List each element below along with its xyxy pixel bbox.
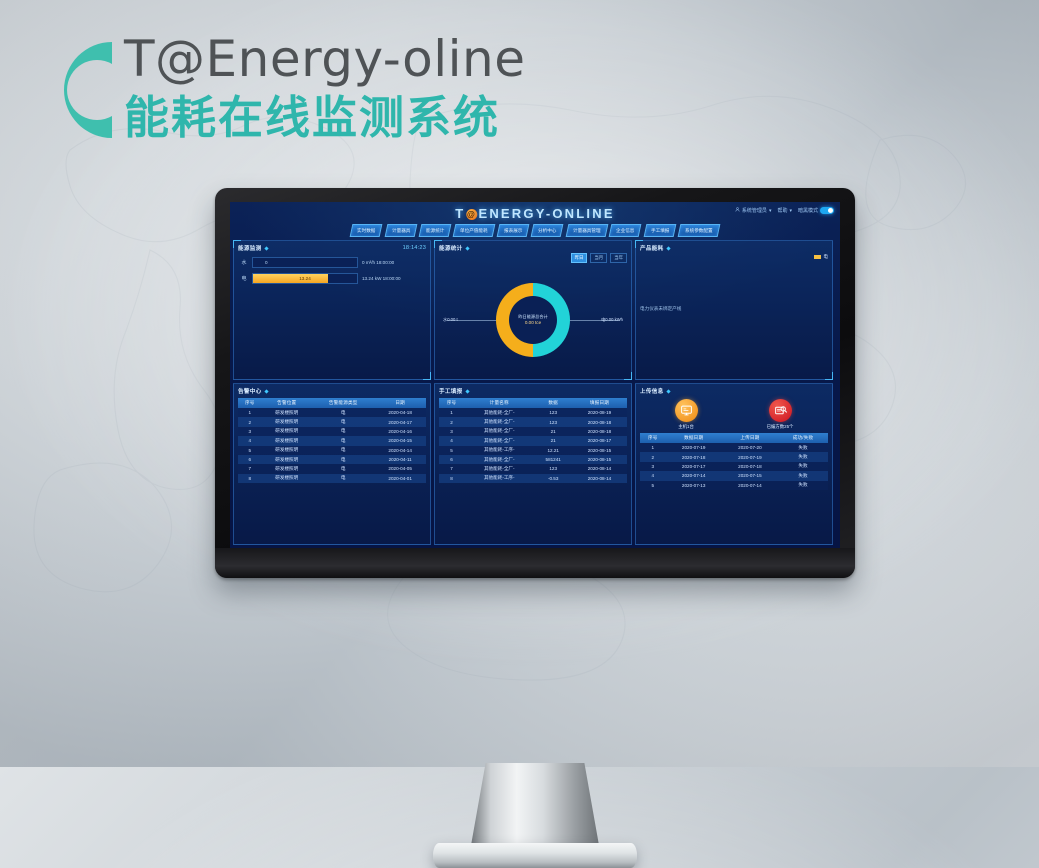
table-cell: 581241 xyxy=(534,455,571,464)
table-row[interactable]: 6其他能耗-全厂-5812412020-08-15 xyxy=(439,455,627,464)
table-cell: 研发楼照明 xyxy=(261,446,312,455)
grid-column-left: 能源监测 18:14:23 水 0 0 m³/h 1 xyxy=(233,240,431,545)
table-row[interactable]: 1其他能耗-全厂-1232020-08-19 xyxy=(439,408,627,417)
c-logo-mark-icon xyxy=(56,36,118,144)
table-cell: 其他能耗-全厂- xyxy=(464,417,534,426)
diamond-icon xyxy=(264,246,268,250)
table-row[interactable]: 3其他能耗-全厂-212020-08-18 xyxy=(439,427,627,436)
table-cell: 2020-08-18 xyxy=(572,417,627,426)
table-cell: 7 xyxy=(439,464,464,473)
table-cell: 2020-08-19 xyxy=(572,408,627,417)
table-cell: 2020-07-20 xyxy=(722,443,778,452)
panel-title-text: 手工填报 xyxy=(439,387,463,395)
nav-item-1[interactable]: 计量器具 xyxy=(384,224,417,237)
table-row[interactable]: 6研发楼照明电2020-04-11 xyxy=(238,455,426,464)
nav-label: 企业信息 xyxy=(616,225,634,236)
donut-center-value: 0.00 tce xyxy=(525,320,541,325)
energy-bar-meta: 13.24 kW 18:00:00 xyxy=(362,276,424,281)
table-row[interactable]: 52020-07-132020-07-14失败 xyxy=(640,481,828,490)
energy-type-label: 电 xyxy=(240,275,248,282)
upload-badges: 主机1台 已编方数25个 xyxy=(640,399,828,430)
brand-title: T@Energy-oline xyxy=(124,28,526,90)
donut-ring: 昨日能源总合计 0.00 tce xyxy=(496,283,570,357)
nav-label: 报表展示 xyxy=(504,225,522,236)
table-row[interactable]: 2研发楼照明电2020-04-17 xyxy=(238,417,426,426)
table-cell: 123 xyxy=(534,417,571,426)
logo-at-icon: @ xyxy=(466,209,477,220)
table-cell: 1 xyxy=(439,408,464,417)
grid-column-right: 产品能耗 电 电力仪表未绑定产线 上传信息 xyxy=(635,240,833,545)
table-row[interactable]: 8其他能耗-工序--0.532020-08-14 xyxy=(439,474,627,483)
table-cell: 2020-07-18 xyxy=(666,452,722,461)
table-cell: 研发楼照明 xyxy=(261,427,312,436)
table-column-header: 序号 xyxy=(439,398,464,408)
nav-item-5[interactable]: 分析中心 xyxy=(531,224,564,237)
table-cell: 其他能耗-全厂- xyxy=(464,464,534,473)
tab-this-month[interactable]: 当月 xyxy=(590,253,607,263)
table-cell: 3 xyxy=(238,427,261,436)
panel-alarm-center: 告警中心 序号告警位置告警能源类型日期 1研发楼照明电2020-04-182研发… xyxy=(233,383,431,545)
energy-bar-fill xyxy=(253,274,328,283)
table-cell: 研发楼照明 xyxy=(261,408,312,417)
dark-mode-switch[interactable]: 暗黑模式 xyxy=(798,207,834,214)
app-logo: T@ENERGY-ONLINE xyxy=(455,206,614,221)
table-cell: 失败 xyxy=(778,443,828,452)
table-cell: 其他能耗-全厂- xyxy=(464,455,534,464)
nav-label: 计量器具 xyxy=(392,225,410,236)
table-cell: 2020-08-17 xyxy=(572,436,627,445)
tab-this-year[interactable]: 当年 xyxy=(610,253,627,263)
table-row[interactable]: 7研发楼照明电2020-04-05 xyxy=(238,464,426,473)
table-cell: 2020-04-14 xyxy=(374,446,426,455)
table-cell: 2020-07-14 xyxy=(722,481,778,490)
table-row[interactable]: 3研发楼照明电2020-04-16 xyxy=(238,427,426,436)
logo-suffix: ENERGY-ONLINE xyxy=(478,206,614,221)
table-cell: 研发楼照明 xyxy=(261,436,312,445)
nav-label: 手工填报 xyxy=(651,225,669,236)
user-icon xyxy=(735,207,740,214)
alarm-table: 序号告警位置告警能源类型日期 1研发楼照明电2020-04-182研发楼照明电2… xyxy=(238,398,426,483)
logo-prefix: T xyxy=(455,206,465,221)
nav-item-3[interactable]: 单位产值能耗 xyxy=(453,224,495,237)
table-cell: 2020-08-15 xyxy=(572,455,627,464)
table-cell: 1 xyxy=(238,408,261,417)
nav-label: 实时数据 xyxy=(357,225,375,236)
nav-label: 能源统计 xyxy=(426,225,444,236)
table-cell: 4 xyxy=(439,436,464,445)
table-row[interactable]: 1研发楼照明电2020-04-18 xyxy=(238,408,426,417)
panel-title-text: 上传信息 xyxy=(640,387,664,395)
energy-bar-row: 电 13.24 13.24 kW 18:00:00 xyxy=(240,273,424,284)
panel-title: 能源统计 xyxy=(439,244,627,252)
panel-title: 手工填报 xyxy=(439,387,627,395)
table-column-header: 序号 xyxy=(640,433,666,443)
monitor-screen: T@ENERGY-ONLINE 系统管理员 ▾ 帮助 ▾ 暗黑模式 xyxy=(230,202,840,548)
monitor-neck xyxy=(470,763,600,851)
table-cell: 电 xyxy=(312,464,374,473)
table-column-header: 上传日期 xyxy=(722,433,778,443)
diamond-icon xyxy=(465,389,469,393)
table-cell: 研发楼照明 xyxy=(261,455,312,464)
table-header-row: 序号数据日期上传日期成功/失败 xyxy=(640,433,828,443)
panel-title-text: 产品能耗 xyxy=(640,244,664,252)
monitor: T@ENERGY-ONLINE 系统管理员 ▾ 帮助 ▾ 暗黑模式 xyxy=(215,188,855,578)
table-cell: 失败 xyxy=(778,481,828,490)
dark-mode-label: 暗黑模式 xyxy=(798,207,818,214)
dashboard-grid: 能源监测 18:14:23 水 0 0 m³/h 1 xyxy=(230,237,840,548)
table-cell: 4 xyxy=(238,436,261,445)
energy-bar-list: 水 0 0 m³/h 18:00:00 电 xyxy=(238,252,426,284)
table-cell: 2020-07-17 xyxy=(666,462,722,471)
diamond-icon xyxy=(465,246,469,250)
legend-label: 电 xyxy=(823,254,828,260)
table-column-header: 告警位置 xyxy=(261,398,312,408)
help-label: 帮助 xyxy=(777,207,787,214)
diamond-icon xyxy=(264,389,268,393)
branding: T@Energy-oline 能耗在线监测系统 xyxy=(56,28,616,158)
nav-label: 分析中心 xyxy=(538,225,556,236)
donut-label-right: 电0.00 kWh xyxy=(601,317,623,323)
table-cell: 5 xyxy=(640,481,666,490)
tab-yesterday[interactable]: 昨日 xyxy=(571,253,588,263)
table-column-header: 计量名称 xyxy=(464,398,534,408)
panel-title: 上传信息 xyxy=(640,387,828,395)
badge-host-count[interactable]: 主机1台 xyxy=(675,399,698,430)
nav-label: 计量器具管理 xyxy=(573,225,601,236)
table-row[interactable]: 2其他能耗-全厂-1232020-08-18 xyxy=(439,417,627,426)
nav-item-0[interactable]: 实时数据 xyxy=(350,224,383,237)
table-row[interactable]: 8研发楼照明电2020-04-01 xyxy=(238,474,426,483)
panel-energy-monitor: 能源监测 18:14:23 水 0 0 m³/h 1 xyxy=(233,240,431,380)
panel-title-text: 能源统计 xyxy=(439,244,463,252)
energy-bar-meta: 0 m³/h 18:00:00 xyxy=(362,260,424,265)
table-cell: 2020-07-15 xyxy=(722,471,778,480)
panel-title: 告警中心 xyxy=(238,387,426,395)
panel-manual-entry: 手工填报 序号计量名称数据填报日期 1其他能耗-全厂-1232020-08-19… xyxy=(434,383,632,545)
table-cell: 电 xyxy=(312,408,374,417)
table-cell: 5 xyxy=(439,446,464,455)
table-cell: 8 xyxy=(439,474,464,483)
table-cell: 2020-07-14 xyxy=(666,471,722,480)
table-column-header: 告警能源类型 xyxy=(312,398,374,408)
table-cell: 2020-08-14 xyxy=(572,474,627,483)
panel-title-text: 告警中心 xyxy=(238,387,262,395)
table-cell: 8 xyxy=(238,474,261,483)
table-cell: 21 xyxy=(534,436,571,445)
table-cell: 4 xyxy=(640,471,666,480)
manual-entry-table: 序号计量名称数据填报日期 1其他能耗-全厂-1232020-08-192其他能耗… xyxy=(439,398,627,483)
table-cell: 2020-04-17 xyxy=(374,417,426,426)
table-cell: 2020-07-19 xyxy=(722,452,778,461)
table-cell: 3 xyxy=(640,462,666,471)
table-cell: 2020-08-18 xyxy=(572,427,627,436)
table-cell: -0.53 xyxy=(534,474,571,483)
table-cell: 2020-04-05 xyxy=(374,464,426,473)
nav-item-2[interactable]: 能源统计 xyxy=(419,224,452,237)
table-cell: 7 xyxy=(238,464,261,473)
table-row[interactable]: 32020-07-172020-07-18失败 xyxy=(640,462,828,471)
upload-table: 序号数据日期上传日期成功/失败 12020-07-192020-07-20失败2… xyxy=(640,433,828,490)
table-cell: 2020-07-19 xyxy=(666,443,722,452)
table-cell: 12.21 xyxy=(534,446,571,455)
brand-subtitle: 能耗在线监测系统 xyxy=(124,90,526,146)
table-row[interactable]: 7其他能耗-全厂-1232020-08-14 xyxy=(439,464,627,473)
table-header-row: 序号计量名称数据填报日期 xyxy=(439,398,627,408)
panel-title: 产品能耗 xyxy=(640,244,828,252)
table-cell: 2020-08-14 xyxy=(572,464,627,473)
account-menu[interactable]: 系统管理员 ▾ xyxy=(735,207,772,214)
table-cell: 2 xyxy=(238,417,261,426)
table-cell: 其他能耗-全厂- xyxy=(464,436,534,445)
table-cell: 2020-04-11 xyxy=(374,455,426,464)
table-cell: 2020-07-18 xyxy=(722,462,778,471)
table-cell: 失败 xyxy=(778,462,828,471)
table-cell: 其他能耗-工序- xyxy=(464,446,534,455)
toggle-icon[interactable] xyxy=(820,207,834,214)
badge-caption: 主机1台 xyxy=(678,424,694,430)
table-cell: 2020-04-15 xyxy=(374,436,426,445)
empty-state-note: 电力仪表未绑定产线 xyxy=(640,306,828,312)
app-header: T@ENERGY-ONLINE 系统管理员 ▾ 帮助 ▾ 暗黑模式 xyxy=(230,202,840,224)
table-row[interactable]: 5其他能耗-工序-12.212020-08-15 xyxy=(439,446,627,455)
table-cell: 2 xyxy=(439,417,464,426)
table-row[interactable]: 22020-07-182020-07-19失败 xyxy=(640,452,828,461)
monitor-base xyxy=(433,843,637,868)
table-column-header: 成功/失败 xyxy=(778,433,828,443)
help-menu[interactable]: 帮助 ▾ xyxy=(777,207,792,214)
nav-item-6[interactable]: 计量器具管理 xyxy=(565,224,607,237)
table-cell: 研发楼照明 xyxy=(261,417,312,426)
table-row[interactable]: 12020-07-192020-07-20失败 xyxy=(640,443,828,452)
table-column-header: 序号 xyxy=(238,398,261,408)
grid-column-center: 能源统计 昨日 当月 当年 水0.00 t 电0.00 kWh xyxy=(434,240,632,545)
table-row[interactable]: 4研发楼照明电2020-04-15 xyxy=(238,436,426,445)
energy-type-label: 水 xyxy=(240,259,248,266)
table-cell: 21 xyxy=(534,427,571,436)
table-cell: 2020-04-18 xyxy=(374,408,426,417)
table-cell: 2020-08-15 xyxy=(572,446,627,455)
dashboard-app: T@ENERGY-ONLINE 系统管理员 ▾ 帮助 ▾ 暗黑模式 xyxy=(230,202,840,548)
badge-record-count[interactable]: 已编方数25个 xyxy=(767,399,794,430)
donut-chart: 水0.00 t 电0.00 kWh 昨日能源总合计 0.00 tce xyxy=(439,263,627,376)
badge-caption: 已编方数25个 xyxy=(767,424,794,430)
table-cell: 其他能耗-工序- xyxy=(464,474,534,483)
nav-label: 单位产值能耗 xyxy=(460,225,488,236)
table-cell: 3 xyxy=(439,427,464,436)
table-cell: 2 xyxy=(640,452,666,461)
table-column-header: 日期 xyxy=(374,398,426,408)
table-cell: 其他能耗-全厂- xyxy=(464,427,534,436)
table-column-header: 数据日期 xyxy=(666,433,722,443)
clock: 18:14:23 xyxy=(403,245,426,251)
table-cell: 电 xyxy=(312,455,374,464)
table-cell: 123 xyxy=(534,408,571,417)
table-cell: 电 xyxy=(312,427,374,436)
table-header-row: 序号告警位置告警能源类型日期 xyxy=(238,398,426,408)
table-row[interactable]: 5研发楼照明电2020-04-14 xyxy=(238,446,426,455)
diamond-icon xyxy=(666,389,670,393)
nav-label: 系统参数配置 xyxy=(685,225,713,236)
nav-item-7[interactable]: 企业信息 xyxy=(609,224,642,237)
main-nav: 实时数据 计量器具 能源统计 单位产值能耗 报表展示 分析中心 计量器具管理 企… xyxy=(230,224,840,237)
table-column-header: 数据 xyxy=(534,398,571,408)
table-cell: 电 xyxy=(312,417,374,426)
energy-bar-value: 0 xyxy=(265,258,268,267)
panel-title: 能源监测 18:14:23 xyxy=(238,244,426,252)
table-column-header: 填报日期 xyxy=(572,398,627,408)
account-name: 系统管理员 xyxy=(742,207,767,214)
table-cell: 6 xyxy=(238,455,261,464)
energy-bar-value: 13.24 xyxy=(299,274,311,283)
table-cell: 电 xyxy=(312,474,374,483)
table-cell: 研发楼照明 xyxy=(261,464,312,473)
donut-label-left: 水0.00 t xyxy=(443,317,458,323)
monitor-icon xyxy=(675,399,698,422)
donut-center: 昨日能源总合计 0.00 tce xyxy=(496,283,570,357)
table-cell: 6 xyxy=(439,455,464,464)
period-tabs: 昨日 当月 当年 xyxy=(439,253,627,263)
account-area: 系统管理员 ▾ 帮助 ▾ 暗黑模式 xyxy=(735,207,834,214)
panel-title-text: 能源监测 xyxy=(238,244,262,252)
table-cell: 123 xyxy=(534,464,571,473)
table-cell: 电 xyxy=(312,446,374,455)
nav-item-4[interactable]: 报表展示 xyxy=(497,224,530,237)
document-search-icon xyxy=(769,399,792,422)
legend-swatch xyxy=(814,255,821,259)
table-cell: 研发楼照明 xyxy=(261,474,312,483)
table-cell: 2020-04-01 xyxy=(374,474,426,483)
nav-item-9[interactable]: 系统参数配置 xyxy=(678,224,720,237)
panel-product-energy: 产品能耗 电 电力仪表未绑定产线 xyxy=(635,240,833,380)
table-cell: 电 xyxy=(312,436,374,445)
table-row[interactable]: 4其他能耗-全厂-212020-08-17 xyxy=(439,436,627,445)
table-cell: 5 xyxy=(238,446,261,455)
table-cell: 2020-07-13 xyxy=(666,481,722,490)
chevron-down-icon: ▾ xyxy=(789,208,792,214)
diamond-icon xyxy=(666,246,670,250)
energy-bar-track: 13.24 xyxy=(252,273,358,284)
table-cell: 其他能耗-全厂- xyxy=(464,408,534,417)
table-cell: 1 xyxy=(640,443,666,452)
table-cell: 失败 xyxy=(778,452,828,461)
chevron-down-icon: ▾ xyxy=(769,208,772,214)
panel-upload-info: 上传信息 主机1台 xyxy=(635,383,833,545)
nav-item-8[interactable]: 手工填报 xyxy=(643,224,676,237)
table-cell: 2020-04-16 xyxy=(374,427,426,436)
table-row[interactable]: 42020-07-142020-07-15失败 xyxy=(640,471,828,480)
chart-legend: 电 xyxy=(640,254,828,260)
energy-bar-row: 水 0 0 m³/h 18:00:00 xyxy=(240,257,424,268)
panel-energy-stats: 能源统计 昨日 当月 当年 水0.00 t 电0.00 kWh xyxy=(434,240,632,380)
table-cell: 失败 xyxy=(778,471,828,480)
energy-bar-track: 0 xyxy=(252,257,358,268)
